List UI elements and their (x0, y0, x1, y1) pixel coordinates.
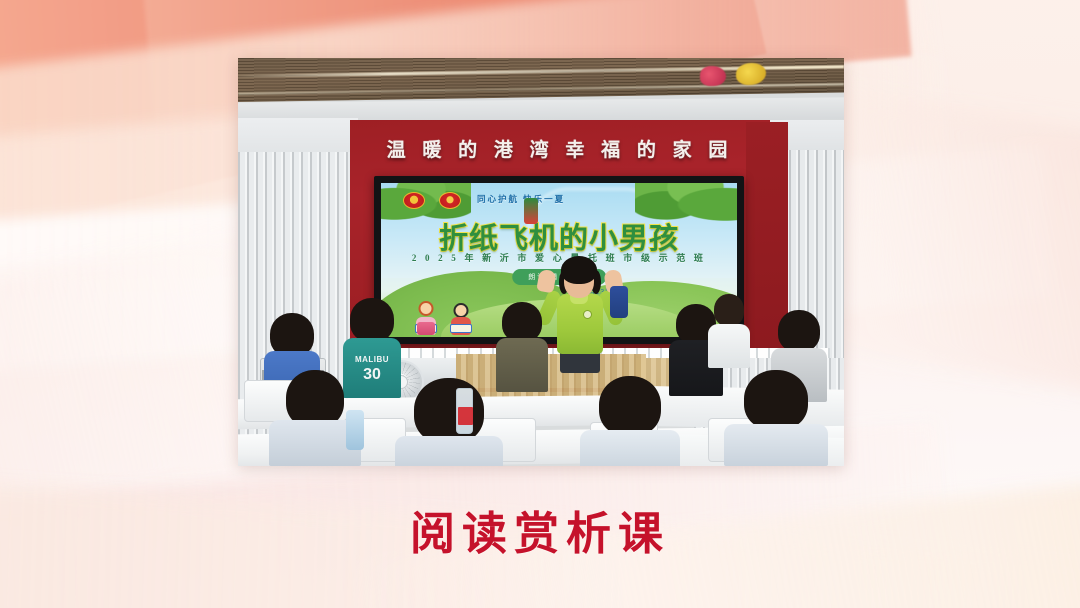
presentation-slide: 温 暖 的 港 湾 幸 福 的 家 园 同心护航 快乐一夏 折纸飞机的小男孩 2… (0, 0, 1080, 608)
classroom-photo: 温 暖 的 港 湾 幸 福 的 家 园 同心护航 快乐一夏 折纸飞机的小男孩 2… (238, 58, 844, 466)
wall-panel-left-top (238, 118, 358, 152)
student-figure (278, 370, 352, 466)
jersey-number-text: 30 (363, 366, 381, 384)
water-bottle (346, 410, 364, 450)
wall-banner-text: 温 暖 的 港 湾 幸 福 的 家 园 (350, 124, 770, 172)
org-logo-icon-1 (403, 192, 425, 209)
student-figure (406, 378, 492, 466)
slide-subtitle-top: 同心护航 快乐一夏 (477, 193, 565, 205)
student-figure (590, 376, 670, 466)
slide-cartoon-child-2 (447, 303, 475, 335)
student-figure: MALIBU 30 (344, 298, 400, 398)
slide-cartoon-luggage (417, 322, 435, 335)
water-bottle (610, 286, 628, 318)
water-bottle (456, 388, 473, 434)
student-figure (736, 370, 816, 466)
decorative-flower-red (700, 66, 726, 86)
water-bottle (524, 198, 538, 224)
org-logo-icon-2 (439, 192, 461, 209)
page-title: 阅读赏析课 (0, 497, 1080, 562)
student-figure (496, 302, 548, 392)
student-figure (708, 294, 750, 368)
jersey-brand-text: MALIBU (355, 355, 389, 364)
